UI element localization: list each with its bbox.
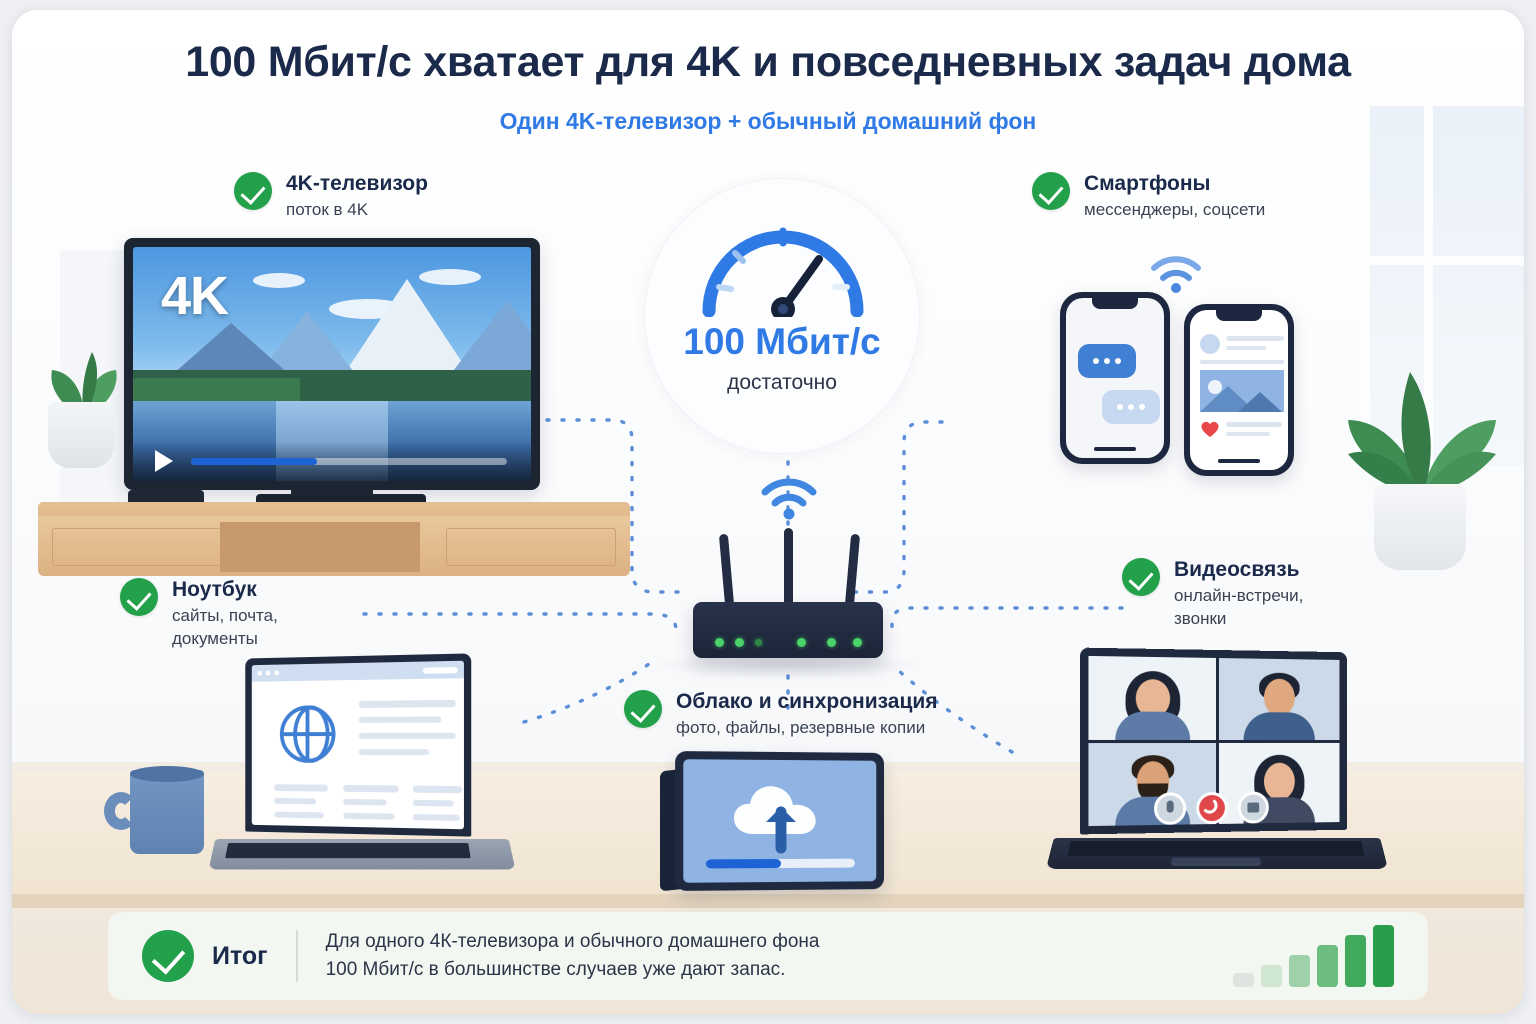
tv-player-bar [133, 441, 531, 481]
callout-desc: фото, файлы, резервные копии [676, 717, 938, 739]
gauge-value: 100 Мбит/с [645, 321, 919, 363]
summary-line-1: Для одного 4К-телевизора и обычного дома… [326, 928, 820, 957]
gauge-dial-icon [693, 213, 873, 317]
signal-bar [1233, 973, 1254, 987]
signal-bars [1233, 925, 1394, 987]
laptop-browser-lid [245, 653, 471, 836]
photo-placeholder [1200, 370, 1284, 412]
laptop-videocall-base [1046, 838, 1388, 869]
summary-bar: Итог Для одного 4К-телевизора и обычного… [108, 912, 1428, 1000]
chat-bubble-incoming [1078, 344, 1136, 378]
router-wifi-icon [760, 478, 818, 520]
signal-bar [1317, 945, 1338, 987]
tablet-device [675, 751, 884, 891]
big-plant-pot [1374, 484, 1466, 570]
callout-desc: онлайн-встречи, звонки [1174, 585, 1303, 630]
tv-progress-fill [191, 458, 317, 465]
check-icon [234, 172, 272, 210]
callout-title: Смартфоны [1084, 172, 1265, 196]
phone-social [1184, 304, 1294, 476]
tv-4k-badge: 4K [161, 265, 228, 327]
tablet-progress-track[interactable] [706, 859, 855, 869]
signal-bar [1345, 935, 1366, 987]
callout-tv: 4K-телевизор поток в 4K [234, 172, 428, 222]
globe-icon [280, 705, 336, 763]
callout-desc: поток в 4K [286, 199, 428, 221]
phone-messenger-screen [1066, 298, 1164, 458]
callout-desc: мессенджеры, соцсети [1084, 199, 1265, 221]
callout-cloud: Облако и синхронизация фото, файлы, резе… [624, 690, 938, 740]
check-icon [624, 690, 662, 728]
heart-icon[interactable] [1200, 420, 1220, 438]
laptop-browser-base [209, 839, 516, 870]
check-icon [120, 578, 158, 616]
speed-gauge: 100 Мбит/с достаточно [644, 178, 920, 454]
callout-videocall: Видеосвязь онлайн-встречи, звонки [1122, 558, 1303, 630]
cloud-upload-icon [726, 778, 835, 855]
check-icon [1032, 172, 1070, 210]
phone-messenger [1060, 292, 1170, 464]
callout-title: 4K-телевизор [286, 172, 428, 196]
signal-bar [1261, 965, 1282, 987]
console-open-shelf [220, 522, 420, 572]
chat-bubble-outgoing [1102, 390, 1160, 424]
tablet-progress-fill [706, 859, 781, 868]
summary-check-icon [142, 930, 194, 982]
summary-text: Для одного 4К-телевизора и обычного дома… [326, 928, 820, 985]
router-shadow [652, 650, 924, 680]
mug [130, 770, 204, 854]
video-tile [1218, 742, 1339, 824]
callout-title: Видеосвязь [1174, 558, 1303, 582]
phones-wifi-icon [1148, 254, 1204, 294]
callout-title: Облако и синхронизация [676, 690, 938, 714]
signal-bar [1373, 925, 1394, 987]
tablet-screen [683, 759, 876, 883]
big-plant-leaves [1332, 358, 1512, 494]
callout-phones: Смартфоны мессенджеры, соцсети [1032, 172, 1265, 222]
infographic-card: 100 Мбит/с хватает для 4K и повседневных… [12, 10, 1524, 1014]
browser-window [252, 661, 464, 830]
signal-bar [1289, 955, 1310, 987]
video-tile [1088, 656, 1215, 740]
browser-toolbar [252, 661, 464, 682]
small-plant-pot [48, 402, 114, 468]
gauge-note: достаточно [645, 371, 919, 395]
phone-social-screen [1190, 310, 1288, 470]
video-tile [1218, 658, 1339, 740]
summary-label: Итог [212, 942, 268, 971]
tv-progress-track[interactable] [191, 458, 507, 465]
tv-device: 4K [124, 238, 540, 490]
summary-divider [296, 930, 298, 982]
callout-desc: сайты, почта, документы [172, 605, 278, 650]
mug-rim [130, 766, 204, 782]
laptop-videocall-lid [1080, 648, 1347, 835]
callout-title: Ноутбук [172, 578, 278, 602]
page-title: 100 Мбит/с хватает для 4K и повседневных… [12, 38, 1524, 87]
page-subtitle: Один 4K-телевизор + обычный домашний фон [12, 108, 1524, 135]
play-icon[interactable] [155, 450, 173, 472]
summary-line-2: 100 Мбит/с в большинстве случаев уже даю… [326, 956, 820, 985]
callout-laptop: Ноутбук сайты, почта, документы [120, 578, 278, 650]
desk-edge [12, 894, 1524, 908]
tv-screen: 4K [133, 247, 531, 481]
router-antenna-center [784, 528, 793, 606]
check-icon [1122, 558, 1160, 596]
